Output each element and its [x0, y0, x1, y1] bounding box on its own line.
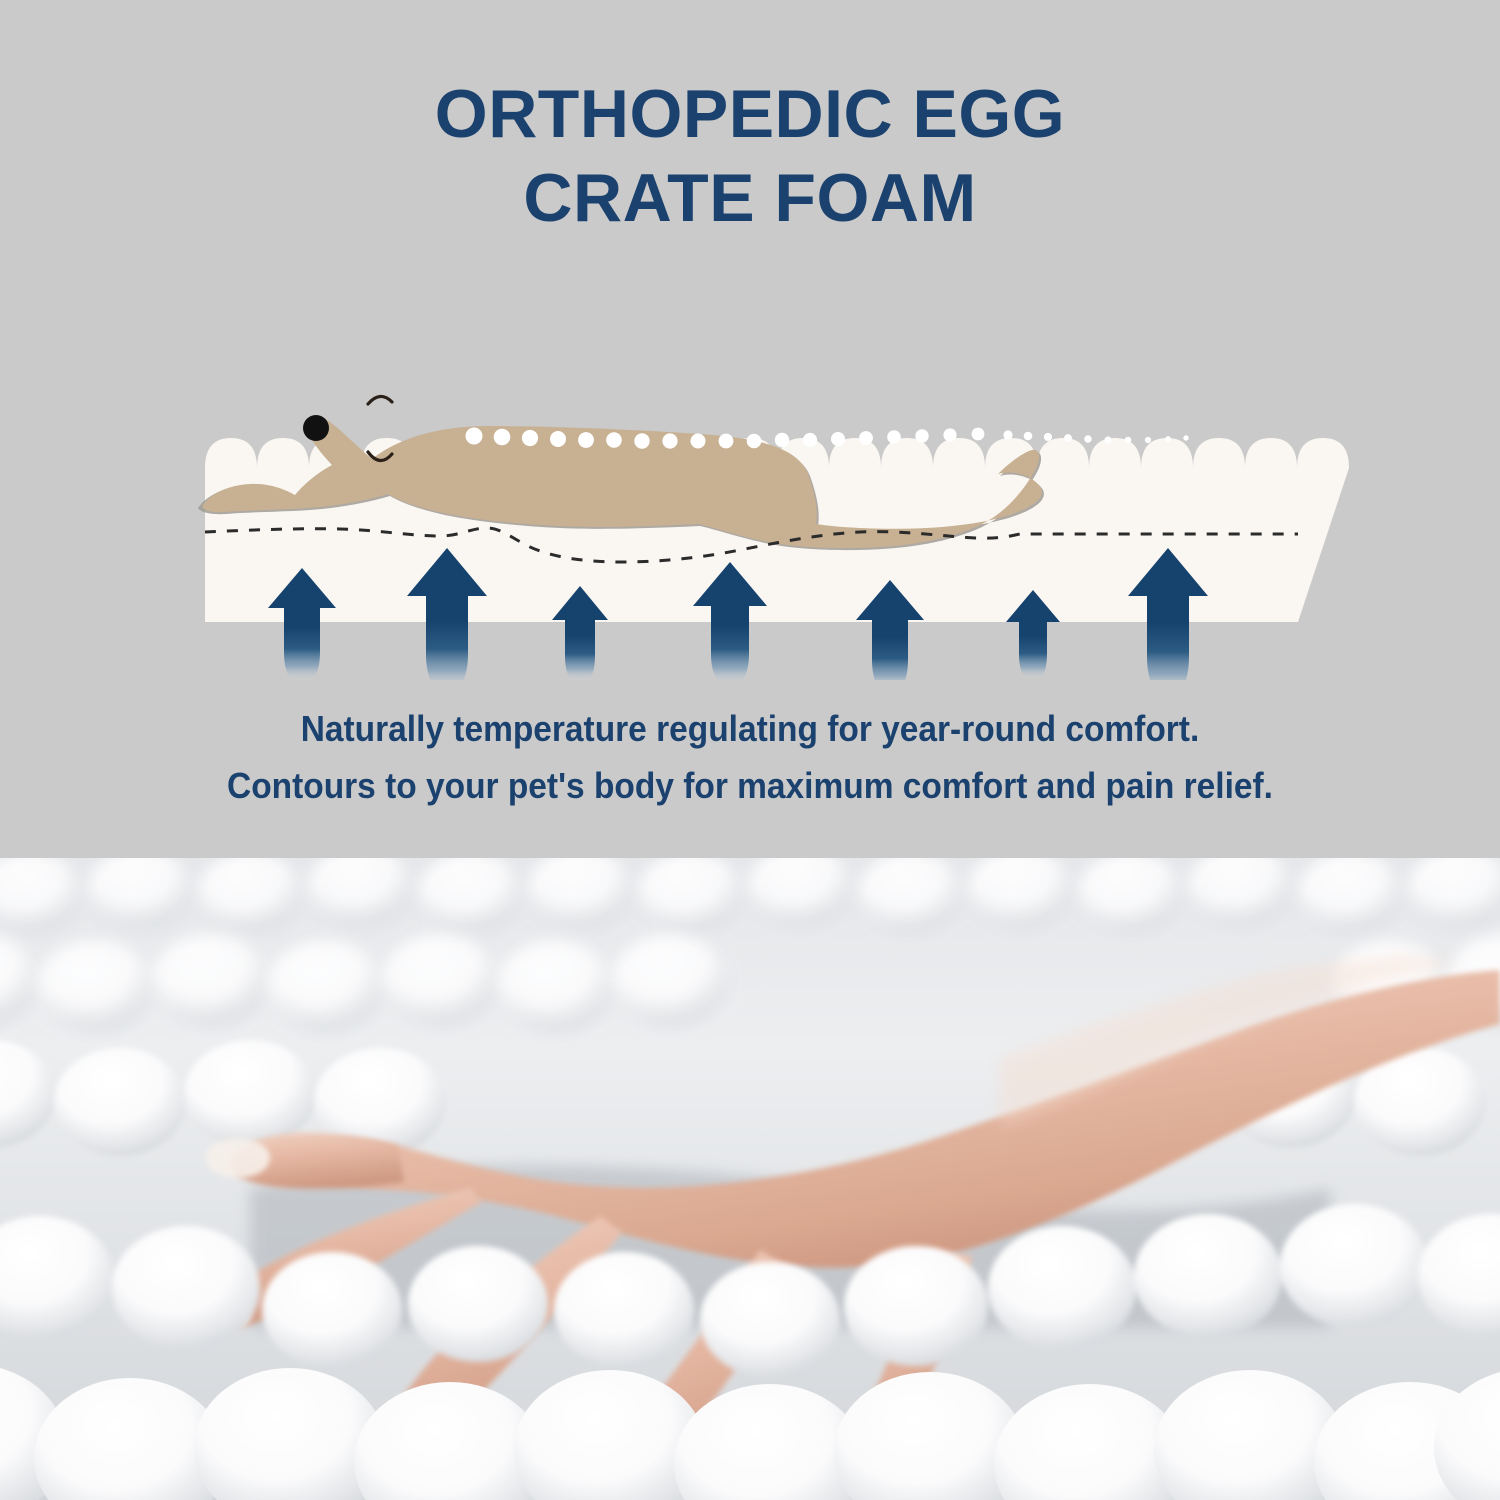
title-line-1: ORTHOPEDIC EGG	[0, 72, 1500, 156]
top-info-panel: ORTHOPEDIC EGG CRATE FOAM	[0, 0, 1500, 858]
caption-line-2: Contours to your pet's body for maximum …	[53, 757, 1448, 814]
dog-nose	[303, 415, 329, 441]
product-infographic: ORTHOPEDIC EGG CRATE FOAM	[0, 0, 1500, 1500]
page-title: ORTHOPEDIC EGG CRATE FOAM	[0, 72, 1500, 240]
caption-line-1: Naturally temperature regulating for yea…	[53, 700, 1448, 757]
foam-cross-section-diagram	[0, 300, 1500, 680]
title-line-2: CRATE FOAM	[0, 156, 1500, 240]
dog-eye	[368, 396, 392, 404]
product-photo	[0, 858, 1500, 1500]
caption: Naturally temperature regulating for yea…	[0, 700, 1500, 814]
